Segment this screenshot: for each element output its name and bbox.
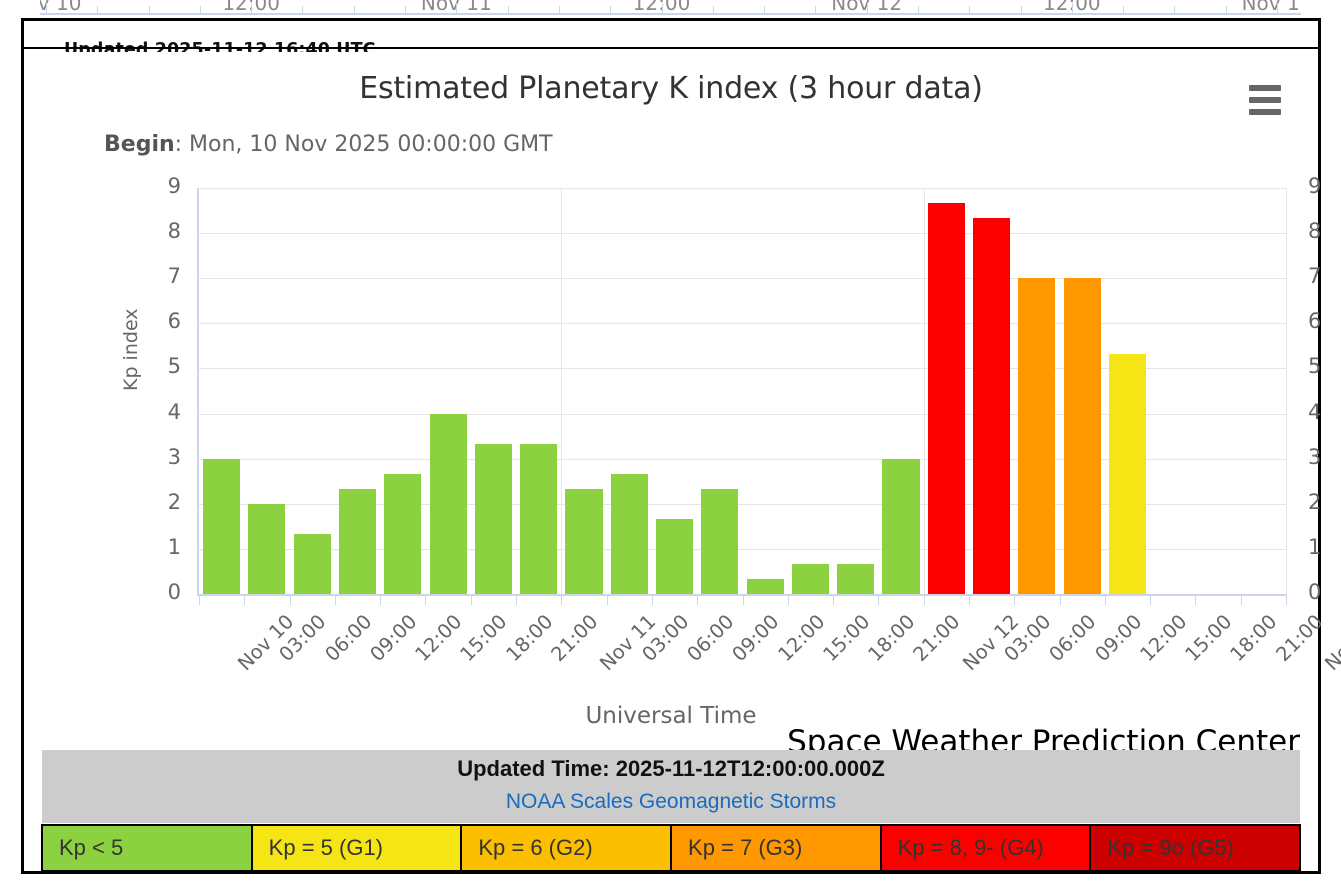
plot-area: 00112233445566778899Nov 1003:0006:0009:0…	[199, 188, 1286, 594]
y-axis-title: Kp index	[120, 308, 142, 391]
x-axis-tick-label: 12:00	[773, 610, 829, 666]
menu-bar-2	[1249, 97, 1281, 103]
scale-cell-label: Kp = 9o (G5)	[1107, 835, 1234, 861]
y-axis-tick-label-right: 4	[1308, 400, 1321, 424]
y-axis-tick-label-right: 8	[1308, 219, 1321, 243]
kp-bar[interactable]	[565, 489, 602, 594]
kp-bar[interactable]	[1018, 278, 1055, 594]
y-axis-tick-label-left: 2	[168, 490, 181, 514]
scale-cell-label: Kp = 8, 9- (G4)	[898, 835, 1044, 861]
x-axis-tick-label: Nov 13	[1320, 610, 1341, 675]
x-axis-tick	[743, 594, 744, 605]
top-axis-minor-tick	[354, 6, 355, 14]
y-gridline	[199, 188, 1286, 189]
x-axis-tick	[1105, 594, 1106, 605]
x-axis-tick	[1060, 594, 1061, 605]
x-axis-tick	[969, 594, 970, 605]
x-axis-tick-label: 12:00	[1135, 610, 1191, 666]
scale-cell-g5[interactable]: Kp = 9o (G5)	[1091, 826, 1299, 870]
menu-bar-3	[1249, 109, 1281, 115]
kp-bar[interactable]	[430, 414, 467, 594]
frame-divider	[21, 47, 1321, 49]
x-axis-tick	[1014, 594, 1015, 605]
top-axis-tick	[867, 3, 868, 14]
y-axis-tick-label-left: 9	[168, 174, 181, 198]
top-axis-minor-tick	[815, 6, 816, 14]
chart-title: Estimated Planetary K index (3 hour data…	[42, 71, 1300, 106]
top-axis-tick	[1277, 3, 1278, 14]
top-axis-minor-tick	[1021, 6, 1022, 14]
x-axis-tick-label: 06:00	[1045, 610, 1101, 666]
top-axis-label: Nov 13	[1242, 0, 1301, 15]
x-axis-tick	[607, 594, 608, 605]
noaa-scale-legend: Kp < 5Kp = 5 (G1)Kp = 6 (G2)Kp = 7 (G3)K…	[41, 824, 1301, 872]
x-axis-tick	[471, 594, 472, 605]
chart-card: Estimated Planetary K index (3 hour data…	[42, 52, 1300, 750]
x-axis-tick	[425, 594, 426, 605]
x-axis-tick-label: 15:00	[456, 610, 512, 666]
footer-updated-time: Updated Time: 2025-11-12T12:00:00.000Z	[42, 756, 1300, 782]
y-axis-tick-label-left: 3	[168, 445, 181, 469]
top-axis-minor-tick	[610, 6, 611, 14]
kp-bar[interactable]	[203, 459, 240, 594]
top-axis-minor-tick	[969, 6, 970, 14]
x-axis-tick-label: 09:00	[728, 610, 784, 666]
x-axis-line	[197, 594, 1286, 596]
x-axis-tick	[244, 594, 245, 605]
x-axis-tick	[335, 594, 336, 605]
x-axis-tick	[1241, 594, 1242, 605]
top-axis-tick	[662, 3, 663, 14]
top-axis-minor-tick	[97, 6, 98, 14]
top-axis-tick	[46, 3, 47, 14]
y-axis-tick-label-left: 0	[168, 580, 181, 604]
y-axis-tick-label-left: 7	[168, 264, 181, 288]
x-axis-tick-label: 15:00	[818, 610, 874, 666]
top-axis-tick	[456, 3, 457, 14]
x-axis-tick-label: 21:00	[546, 610, 602, 666]
kp-bar[interactable]	[928, 203, 965, 594]
chart-subtitle-value: : Mon, 10 Nov 2025 00:00:00 GMT	[175, 132, 553, 157]
hamburger-menu-icon[interactable]	[1244, 80, 1286, 120]
swpc-kp-index-page: Nov 1012:00Nov 1112:00Nov 1212:00Nov 13 …	[0, 0, 1341, 892]
scale-cell-label: Kp = 7 (G3)	[688, 835, 802, 861]
y-axis-tick-label-left: 1	[168, 535, 181, 559]
x-axis-tick	[561, 594, 562, 605]
x-axis-tick	[290, 594, 291, 605]
x-axis-tick	[878, 594, 879, 605]
scale-cell-label: Kp = 6 (G2)	[478, 835, 592, 861]
x-axis-tick-label: 09:00	[365, 610, 421, 666]
y-axis-tick-label-left: 6	[168, 309, 181, 333]
x-axis-tick	[924, 594, 925, 605]
scale-cell-g2[interactable]: Kp = 6 (G2)	[462, 826, 672, 870]
kp-bar[interactable]	[1109, 354, 1146, 594]
y-axis-tick-label-right: 5	[1308, 354, 1321, 378]
y-axis-tick-label-left: 4	[168, 400, 181, 424]
top-axis-minor-tick	[713, 6, 714, 14]
kp-bar[interactable]	[475, 444, 512, 594]
top-axis-tick	[1072, 3, 1073, 14]
top-axis-minor-tick	[405, 6, 406, 14]
x-axis-tick	[516, 594, 517, 605]
kp-bar[interactable]	[882, 459, 919, 594]
menu-bar-1	[1249, 85, 1281, 91]
x-axis-tick-label: 18:00	[864, 610, 920, 666]
x-axis-tick-label: 15:00	[1181, 610, 1237, 666]
x-day-gridline	[1286, 188, 1287, 594]
kp-bar[interactable]	[656, 519, 693, 594]
y-gridline	[199, 323, 1286, 324]
x-day-gridline	[924, 188, 925, 594]
kp-bar[interactable]	[339, 489, 376, 594]
y-gridline	[199, 278, 1286, 279]
y-gridline	[199, 233, 1286, 234]
kp-bar[interactable]	[294, 534, 331, 594]
x-axis-tick	[380, 594, 381, 605]
y-axis-tick-label-right: 2	[1308, 490, 1321, 514]
x-axis-tick-label: 09:00	[1090, 610, 1146, 666]
top-axis-minor-tick	[508, 6, 509, 14]
x-axis-tick	[652, 594, 653, 605]
scale-cell-label: Kp = 5 (G1)	[269, 835, 383, 861]
clipped-top-axis-strip: Nov 1012:00Nov 1112:00Nov 1212:00Nov 13	[40, 0, 1301, 17]
kp-bar[interactable]	[747, 579, 784, 594]
x-axis-tick	[788, 594, 789, 605]
kp-bar[interactable]	[837, 564, 874, 594]
x-axis-tick	[1150, 594, 1151, 605]
top-axis-minor-tick	[149, 6, 150, 14]
top-axis-minor-tick	[559, 6, 560, 14]
kp-bar[interactable]	[1064, 278, 1101, 594]
y-axis-tick-label-right: 9	[1308, 174, 1321, 198]
x-axis-tick-label: 18:00	[501, 610, 557, 666]
top-axis-minor-tick	[1174, 6, 1175, 14]
x-axis-tick	[1195, 594, 1196, 605]
x-axis-tick	[199, 594, 200, 605]
kp-bar[interactable]	[384, 474, 421, 594]
x-day-gridline	[561, 188, 562, 594]
y-axis-tick-label-right: 0	[1308, 580, 1321, 604]
top-axis-minor-tick	[302, 6, 303, 14]
top-axis-minor-tick	[200, 6, 201, 14]
kp-bar[interactable]	[701, 489, 738, 594]
x-axis-tick-label: 18:00	[1226, 610, 1282, 666]
scale-cell-g4[interactable]: Kp = 8, 9- (G4)	[882, 826, 1092, 870]
x-axis-tick-label: 06:00	[320, 610, 376, 666]
scale-cell-below-g1[interactable]: Kp < 5	[43, 826, 253, 870]
top-axis-minor-tick	[764, 6, 765, 14]
scale-cell-label: Kp < 5	[59, 835, 123, 861]
kp-bar[interactable]	[611, 474, 648, 594]
x-axis-tick	[697, 594, 698, 605]
footer-band: Updated Time: 2025-11-12T12:00:00.000Z N…	[42, 750, 1300, 823]
x-axis-tick	[1286, 594, 1287, 605]
kp-bar[interactable]	[520, 444, 557, 594]
y-axis-tick-label-right: 6	[1308, 309, 1321, 333]
top-axis-tick	[251, 3, 252, 14]
kp-bar[interactable]	[973, 218, 1010, 594]
noaa-scales-link[interactable]: NOAA Scales Geomagnetic Storms	[42, 790, 1300, 814]
x-axis-tick-label: 06:00	[682, 610, 738, 666]
top-axis-minor-tick	[1123, 6, 1124, 14]
y-axis-tick-label-left: 8	[168, 219, 181, 243]
scale-cell-g1[interactable]: Kp = 5 (G1)	[253, 826, 463, 870]
top-axis-minor-tick	[1226, 6, 1227, 14]
y-axis-line	[197, 188, 199, 594]
y-axis-tick-label-right: 3	[1308, 445, 1321, 469]
y-axis-tick-label-left: 5	[168, 354, 181, 378]
x-axis-tick-label: 12:00	[411, 610, 467, 666]
y-axis-tick-label-right: 7	[1308, 264, 1321, 288]
top-axis-minor-tick	[918, 6, 919, 14]
y-axis-tick-label-right: 1	[1308, 535, 1321, 559]
kp-bar[interactable]	[248, 504, 285, 594]
chart-subtitle-label: Begin	[104, 132, 175, 157]
scale-cell-g3[interactable]: Kp = 7 (G3)	[672, 826, 882, 870]
chart-subtitle: Begin: Mon, 10 Nov 2025 00:00:00 GMT	[104, 132, 553, 157]
x-axis-tick-label: 21:00	[909, 610, 965, 666]
x-axis-tick	[833, 594, 834, 605]
kp-bar[interactable]	[792, 564, 829, 594]
